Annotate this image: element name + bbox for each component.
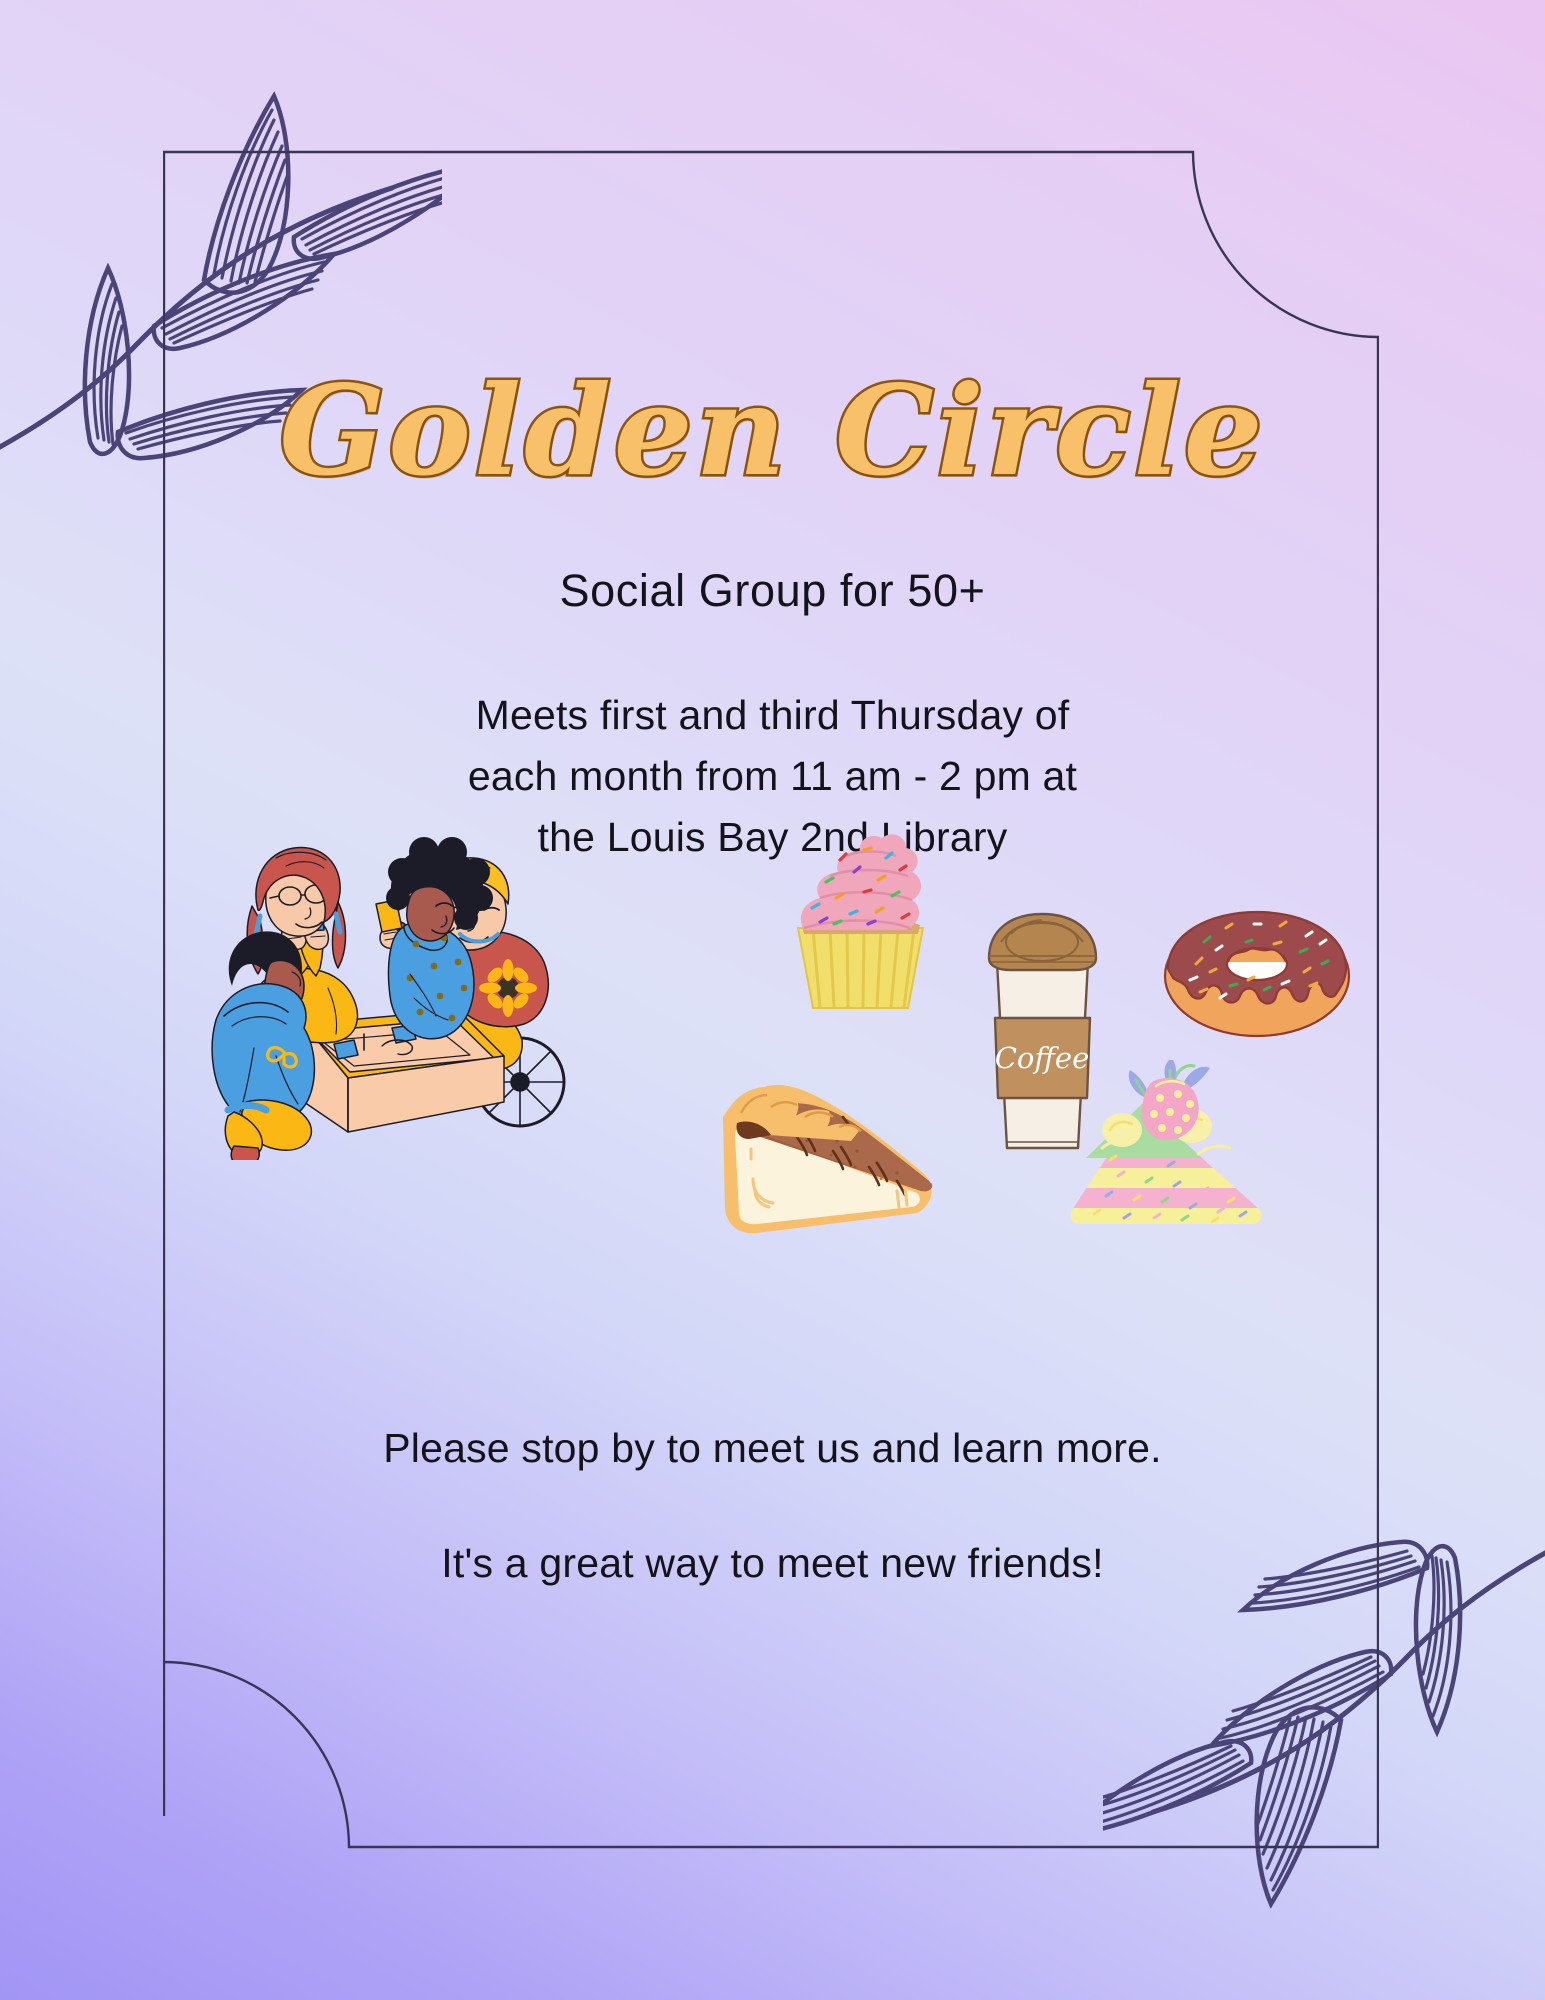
donut-illustration <box>1160 880 1355 1045</box>
illustration-group: Coffee <box>0 900 1545 1380</box>
layer-cake-slice-illustration <box>1050 1060 1265 1255</box>
pie-slice-illustration <box>705 1055 945 1250</box>
flyer-poster: Golden Circle Social Group for 50+ Meets… <box>0 0 1545 2000</box>
poster-content: Golden Circle Social Group for 50+ Meets… <box>0 0 1545 2000</box>
closing-line-1: Please stop by to meet us and learn more… <box>0 1425 1545 1472</box>
meeting-line-1: Meets first and third Thursday of <box>0 685 1545 746</box>
subtitle: Social Group for 50+ <box>0 565 1545 617</box>
cupcake-illustration <box>768 820 953 1015</box>
meeting-line-2: each month from 11 am - 2 pm at <box>0 746 1545 807</box>
people-playing-cards-illustration <box>198 810 588 1160</box>
page-title: Golden Circle <box>0 370 1545 494</box>
closing-line-2: It's a great way to meet new friends! <box>0 1540 1545 1587</box>
